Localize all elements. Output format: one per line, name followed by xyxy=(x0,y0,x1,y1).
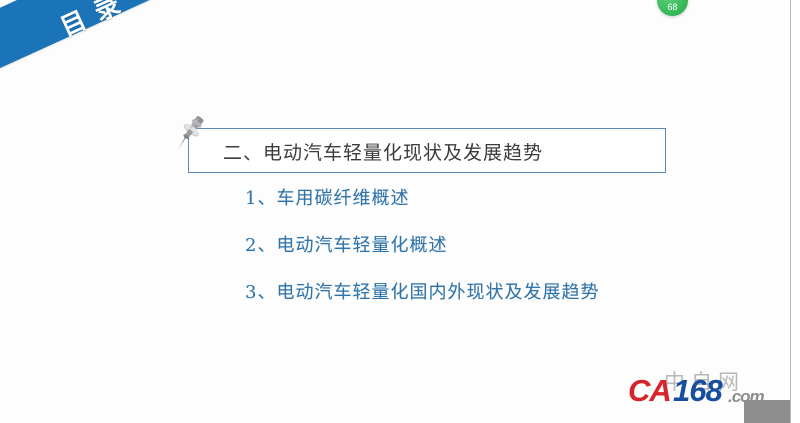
contents-list: 1、车用碳纤维概述 2、电动汽车轻量化概述 3、电动汽车轻量化国内外现状及发展趋… xyxy=(245,184,715,325)
page-count-badge[interactable]: 68 xyxy=(657,0,688,16)
slide-frame-margin xyxy=(791,0,800,423)
pushpin-icon xyxy=(166,110,214,158)
section-title-text: 二、电动汽车轻量化现状及发展趋势 xyxy=(223,138,543,165)
contents-item-3[interactable]: 3、电动汽车轻量化国内外现状及发展趋势 xyxy=(245,278,715,304)
contents-item-2[interactable]: 2、电动汽车轻量化概述 xyxy=(245,231,715,257)
corner-block xyxy=(744,400,790,423)
watermark-ca-text: CA xyxy=(628,373,671,409)
watermark-number-text: 168 xyxy=(673,373,722,409)
contents-item-1[interactable]: 1、车用碳纤维概述 xyxy=(245,184,715,210)
banner-stripe xyxy=(0,0,275,109)
banner-label: 目录 xyxy=(54,0,136,44)
presentation-slide: 目录 68 二、电动汽车轻量化现状及发展趋势 1、车用碳纤维概述 2、电动汽车轻… xyxy=(0,0,800,423)
section-title-box: 二、电动汽车轻量化现状及发展趋势 xyxy=(188,128,666,173)
